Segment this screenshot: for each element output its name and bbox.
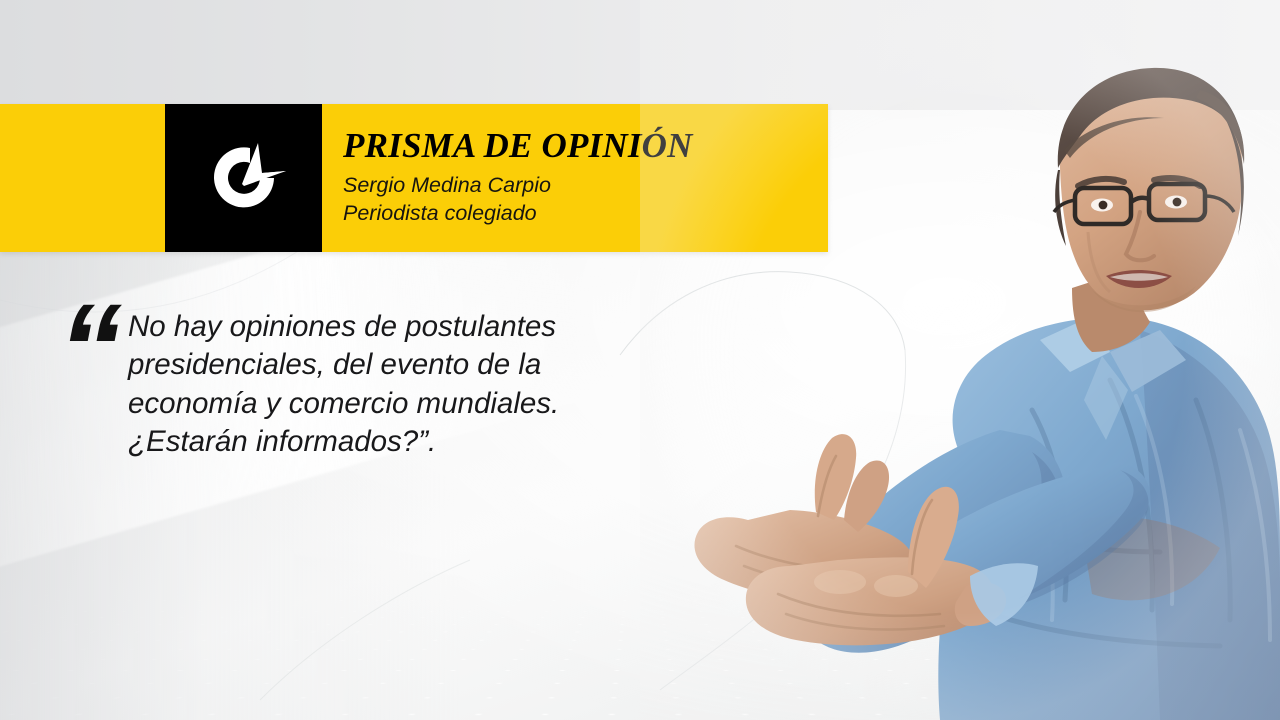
header-banner: PRISMA DE OPINIÓN Sergio Medina Carpio P… xyxy=(0,104,828,252)
page-title: PRISMA DE OPINIÓN xyxy=(343,128,828,163)
graphic-canvas: PRISMA DE OPINIÓN Sergio Medina Carpio P… xyxy=(0,0,1280,720)
author-name: Sergio Medina Carpio xyxy=(343,172,828,200)
banner-left-spacer xyxy=(0,104,165,252)
logo-tile xyxy=(165,104,322,252)
prisma-circular-arrow-logo-icon xyxy=(192,126,296,230)
quote-text: No hay opiniones de postulantes presiden… xyxy=(116,308,559,461)
banner-text-block: PRISMA DE OPINIÓN Sergio Medina Carpio P… xyxy=(322,104,828,252)
author-role: Periodista colegiado xyxy=(343,200,828,228)
quote-block: “ No hay opiniones de postulantes presid… xyxy=(58,308,698,461)
open-quote-icon: “ xyxy=(58,304,116,396)
